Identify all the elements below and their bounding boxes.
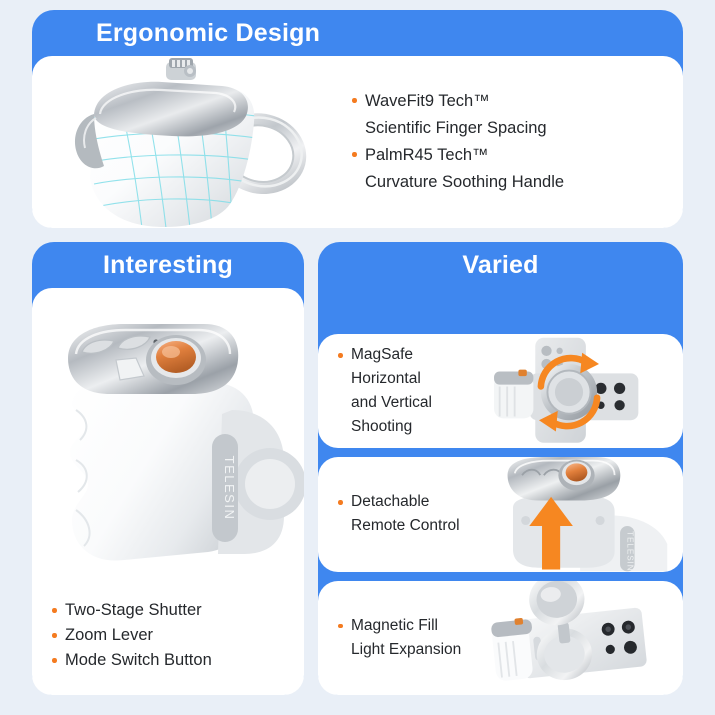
interesting-card-body: TELESIN bbox=[32, 288, 304, 695]
bullet-palmr45: PalmR45 Tech™ bbox=[350, 142, 669, 169]
bullet-soothing-handle: Curvature Soothing Handle bbox=[350, 169, 669, 196]
camera-grip-controls-closeup-image: TELESIN bbox=[32, 288, 304, 598]
interesting-bullet-list: Two-Stage Shutter Zoom Lever Mode Switch… bbox=[32, 598, 304, 695]
bullet-finger-spacing: Scientific Finger Spacing bbox=[350, 115, 669, 142]
bullet-zoom-lever: Zoom Lever bbox=[50, 623, 304, 648]
varied-card-remote: Detachable Remote Control bbox=[318, 457, 683, 571]
bullet-shooting: Shooting bbox=[336, 415, 470, 439]
bullet-detachable: Detachable bbox=[336, 490, 470, 514]
magsafe-rotation-image bbox=[470, 334, 683, 448]
ergonomic-bullet-list: WaveFit9 Tech™ Scientific Finger Spacing… bbox=[350, 88, 683, 196]
bullet-wavefit9: WaveFit9 Tech™ bbox=[350, 88, 669, 115]
section-interesting: Interesting bbox=[32, 242, 304, 695]
bullet-magsafe: MagSafe bbox=[336, 343, 470, 367]
section-varied: Varied MagSafe Horizontal and Vertical S… bbox=[318, 242, 683, 695]
fill-light-text-block: Magnetic Fill Light Expansion bbox=[318, 614, 470, 662]
bullet-magnetic-fill: Magnetic Fill bbox=[336, 614, 470, 638]
bullet-and-vertical: and Vertical bbox=[336, 391, 470, 415]
magnetic-fill-light-image bbox=[470, 581, 683, 695]
section-title-ergonomic: Ergonomic Design bbox=[32, 10, 683, 56]
camera-grip-with-finger-ring-image bbox=[32, 56, 350, 228]
varied-card-fill-light: Magnetic Fill Light Expansion bbox=[318, 581, 683, 695]
bullet-remote-control: Remote Control bbox=[336, 514, 470, 538]
remote-text-block: Detachable Remote Control bbox=[318, 490, 470, 538]
svg-text:TELESIN: TELESIN bbox=[625, 532, 634, 572]
bullet-mode-switch: Mode Switch Button bbox=[50, 648, 304, 673]
bullet-light-expansion: Light Expansion bbox=[336, 638, 470, 662]
section-ergonomic-design: Ergonomic Design bbox=[32, 10, 683, 228]
varied-card-stack: MagSafe Horizontal and Vertical Shooting bbox=[318, 288, 683, 695]
brand-pill: TELESIN bbox=[212, 434, 238, 542]
bottom-row: Interesting bbox=[32, 242, 683, 695]
detachable-remote-image: TELESIN bbox=[470, 457, 683, 571]
bullet-two-stage-shutter: Two-Stage Shutter bbox=[50, 598, 304, 623]
varied-card-magsafe: MagSafe Horizontal and Vertical Shooting bbox=[318, 334, 683, 448]
product-feature-page: Ergonomic Design bbox=[0, 0, 715, 715]
section-title-interesting: Interesting bbox=[32, 242, 304, 288]
section-title-varied: Varied bbox=[318, 242, 683, 288]
magsafe-text-block: MagSafe Horizontal and Vertical Shooting bbox=[318, 343, 470, 439]
bullet-horizontal: Horizontal bbox=[336, 367, 470, 391]
svg-text:TELESIN: TELESIN bbox=[222, 456, 237, 521]
ergonomic-card-body: WaveFit9 Tech™ Scientific Finger Spacing… bbox=[32, 56, 683, 228]
